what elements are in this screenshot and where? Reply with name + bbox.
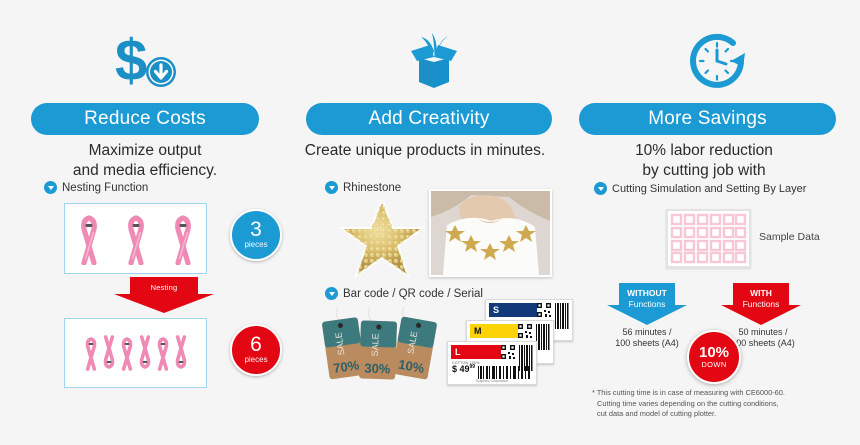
nesting-after-box [64, 318, 207, 388]
pill-label: Add Creativity [368, 108, 489, 130]
time-line-1: 56 minutes / [599, 327, 695, 338]
nesting-arrow-label: Nesting [110, 283, 218, 292]
ribbon-icon [121, 213, 151, 265]
label-price: $ 4999 [452, 364, 475, 374]
qr-code-icon [501, 345, 515, 359]
nesting-arrow: Nesting [110, 277, 218, 313]
sample-data-card [666, 209, 751, 268]
triangle-bullet-icon [325, 181, 338, 194]
arrow-without-label: WITHOUT Functions [605, 288, 689, 309]
triangle-bullet-icon [325, 287, 338, 300]
arrow-without-functions: WITHOUT Functions [605, 283, 689, 325]
subtitle-add-creativity: Create unique products in minutes. [284, 141, 566, 161]
nesting-before-box [64, 203, 207, 274]
rhinestone-shirt-photo [429, 189, 552, 277]
arrow-with-functions: WITH Functions [719, 283, 803, 325]
qr-code-icon [518, 324, 532, 338]
arrow-title: WITHOUT [605, 288, 689, 299]
footnote-line-1: * This cutting time is in case of measur… [592, 388, 854, 399]
badge-unit: pieces [244, 355, 267, 365]
ribbon-icon [117, 327, 137, 379]
pill-label: Reduce Costs [84, 108, 206, 130]
pill-label: More Savings [648, 108, 767, 130]
label-band-m: M [470, 324, 523, 338]
barcode-icon [535, 324, 550, 350]
badge-unit: pieces [244, 240, 267, 250]
badge-3-pieces: 3 pieces [230, 209, 282, 261]
label-price-sup: 99 [470, 364, 476, 370]
down-word: DOWN [701, 360, 726, 369]
ribbon-icon [153, 327, 173, 379]
label-price-main: $ 49 [452, 364, 470, 374]
svg-text:SALE: SALE [370, 333, 381, 356]
time-without-functions: 56 minutes / 100 sheets (A4) [599, 327, 695, 349]
down-percent: 10% [699, 345, 729, 360]
infographic-board: $ Reduce Costs Maximize output and media… [0, 0, 860, 445]
ribbon-icon [81, 327, 101, 379]
badge-count: 3 [250, 220, 262, 240]
triangle-bullet-icon [44, 181, 57, 194]
feature-label: Cutting Simulation and Setting By Layer [612, 183, 806, 195]
qr-code-icon [537, 303, 551, 317]
clock-icon [578, 28, 860, 94]
pill-reduce-costs: Reduce Costs [31, 103, 259, 135]
feature-cutting-simulation: Cutting Simulation and Setting By Layer [594, 182, 806, 195]
subtitle-reduce-costs: Maximize output and media efficiency. [0, 141, 290, 181]
subtitle-line-1: Create unique products in minutes. [284, 141, 566, 161]
badge-count: 6 [250, 335, 262, 355]
subtitle-more-savings: 10% labor reduction by cutting job with [568, 141, 840, 181]
svg-text:30%: 30% [364, 361, 391, 377]
rhinestone-star-image [339, 198, 425, 280]
arrow-title: WITH [719, 288, 803, 299]
footnote: * This cutting time is in case of measur… [592, 388, 854, 420]
label-band-l: L [451, 345, 504, 359]
open-box-icon [290, 28, 578, 94]
ribbon-row-after [65, 319, 206, 387]
dollar-down-icon: $ [0, 28, 290, 94]
arrow-with-label: WITH Functions [719, 288, 803, 309]
feature-nesting-function: Nesting Function [44, 181, 148, 194]
barcode-icon [554, 303, 569, 329]
badge-10-percent-down: 10% DOWN [687, 330, 741, 384]
ribbon-icon [135, 327, 155, 379]
subtitle-line-1: Maximize output [0, 141, 290, 161]
ribbon-icon [168, 213, 198, 265]
footnote-line-3: cut data and model of cutting plotter. [592, 409, 854, 420]
ribbon-row-before [65, 204, 206, 273]
svg-text:$: $ [115, 30, 147, 92]
column-reduce-costs: $ Reduce Costs Maximize output and media… [0, 0, 290, 445]
label-band-s: S [489, 303, 542, 317]
feature-rhinestone: Rhinestone [325, 181, 401, 194]
subtitle-line-2: and media efficiency. [0, 161, 290, 181]
feature-label: Rhinestone [343, 182, 401, 194]
arrow-sub: Functions [719, 299, 803, 310]
feature-label: Bar code / QR code / Serial [343, 288, 483, 300]
subtitle-line-2: by cutting job with [568, 161, 840, 181]
pill-more-savings: More Savings [579, 103, 836, 135]
ribbon-icon [171, 327, 191, 379]
feature-label: Nesting Function [62, 182, 148, 194]
sale-tags-image: SALE 70% SALE 30% SALE 10% [318, 305, 443, 385]
size-labels-image: S M L [447, 299, 573, 385]
label-footer: Graphtec Corporation [448, 379, 536, 383]
footnote-line-2: Cutting time varies depending on the cut… [592, 399, 854, 410]
sample-data-label: Sample Data [759, 231, 820, 243]
pill-add-creativity: Add Creativity [306, 103, 552, 135]
label-size-l: L COTTON 100% $ 4999 [447, 341, 537, 385]
arrow-sub: Functions [605, 299, 689, 310]
subtitle-line-1: 10% labor reduction [568, 141, 840, 161]
badge-6-pieces: 6 pieces [230, 324, 282, 376]
time-line-2: 100 sheets (A4) [599, 338, 695, 349]
sample-data-grid [668, 211, 749, 266]
ribbon-icon [74, 213, 104, 265]
ribbon-icon [99, 327, 119, 379]
triangle-bullet-icon [594, 182, 607, 195]
